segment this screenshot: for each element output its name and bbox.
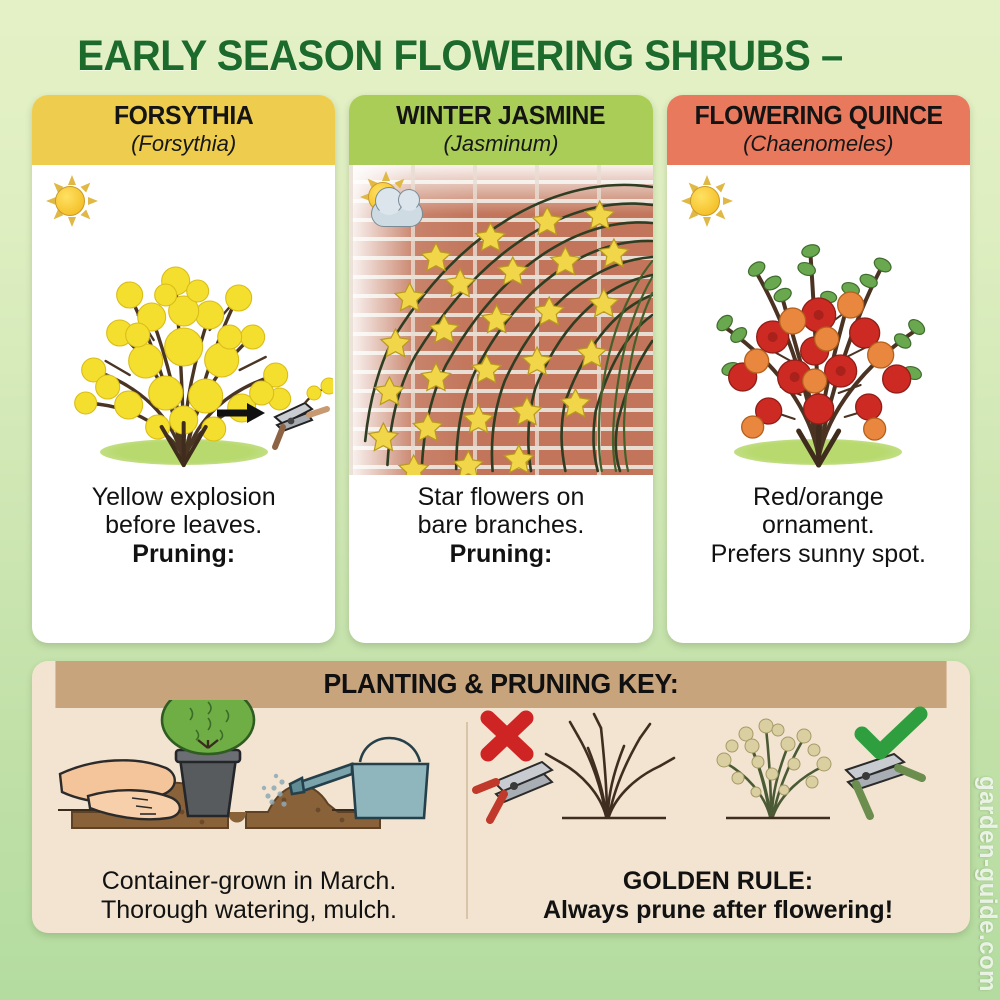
caption-line-1: Yellow explosion <box>92 483 276 511</box>
card-header-winter-jasmine: WINTER JASMINE (Jasminum) <box>349 95 652 165</box>
caption-pruning-label: Pruning: <box>40 540 327 569</box>
card-common-name: WINTER JASMINE <box>360 104 643 130</box>
shrub-card-forsythia[interactable]: FORSYTHIA (Forsythia) <box>32 95 335 643</box>
card-caption-forsythia: Yellow explosion before leaves. Pruning: <box>32 475 335 644</box>
card-common-name: FORSYTHIA <box>42 104 325 130</box>
jasmine-star-flowers <box>369 201 629 475</box>
key-left-text: Container-grown in March. Thorough water… <box>32 867 466 925</box>
red-pruning-shears-icon <box>476 762 552 820</box>
pruning-comparison-svg <box>470 704 940 834</box>
golden-rule-text: Always prune after flowering! <box>543 896 893 924</box>
caption-line-3: Prefers sunny spot. <box>711 540 926 568</box>
watermark: garden-guide.com <box>973 776 1000 992</box>
card-caption-flowering-quince: Red/orange ornament. Prefers sunny spot. <box>667 475 970 644</box>
card-caption-winter-jasmine: Star flowers on bare branches. Pruning: <box>349 475 652 644</box>
forsythia-bush-illustration <box>32 165 335 475</box>
card-common-name: FLOWERING QUINCE <box>677 104 960 130</box>
caption-line-1: Red/orange <box>753 483 884 511</box>
flowering-quince-bush-illustration <box>667 165 970 475</box>
quince-svg <box>667 165 970 475</box>
caption-pruning-label: Pruning: <box>357 540 644 569</box>
planting-pruning-key-panel: PLANTING & PRUNING KEY: <box>32 661 970 933</box>
card-latin-name: (Chaenomeles) <box>673 133 964 155</box>
caption-line-2: ornament. <box>762 511 875 539</box>
card-latin-name: (Jasminum) <box>355 133 646 155</box>
golden-rule-label: GOLDEN RULE: <box>623 867 813 895</box>
caption-line-2: bare branches. <box>418 511 585 539</box>
planting-svg <box>32 700 466 832</box>
key-left-line-1: Container-grown in March. <box>102 867 397 895</box>
shrub-card-row: FORSYTHIA (Forsythia) <box>0 81 1000 643</box>
pruning-do-dont-illustration: GOLDEN RULE: Always prune after flowerin… <box>466 708 970 933</box>
key-left-line-2: Thorough watering, mulch. <box>101 896 397 924</box>
bare-shrub-icon <box>546 714 674 816</box>
caption-line-2: before leaves. <box>105 511 262 539</box>
card-header-forsythia: FORSYTHIA (Forsythia) <box>32 95 335 165</box>
shrub-card-winter-jasmine[interactable]: WINTER JASMINE (Jasminum) <box>349 95 652 643</box>
shrub-card-flowering-quince[interactable]: FLOWERING QUINCE (Chaenomeles) <box>667 95 970 643</box>
page-title: EARLY SEASON FLOWERING SHRUBS – <box>35 0 965 81</box>
arrow-icon <box>217 403 265 423</box>
red-x-icon <box>488 718 526 754</box>
caption-line-1: Star flowers on <box>418 483 585 511</box>
key-panel-body: Container-grown in March. Thorough water… <box>32 708 970 933</box>
green-check-icon <box>862 714 920 752</box>
key-right-text: GOLDEN RULE: Always prune after flowerin… <box>466 867 970 925</box>
shrub-blossoms <box>717 719 831 797</box>
green-pruning-shears-icon <box>846 754 922 816</box>
card-latin-name: (Forsythia) <box>38 133 329 155</box>
winter-jasmine-on-brick-wall-illustration <box>349 165 652 475</box>
cloud-icon <box>371 199 423 227</box>
card-header-flowering-quince: FLOWERING QUINCE (Chaenomeles) <box>667 95 970 165</box>
water-droplets <box>262 774 287 807</box>
planting-hands-pot-watering-can-illustration: Container-grown in March. Thorough water… <box>32 708 466 933</box>
pruning-shears-icon <box>213 373 333 453</box>
